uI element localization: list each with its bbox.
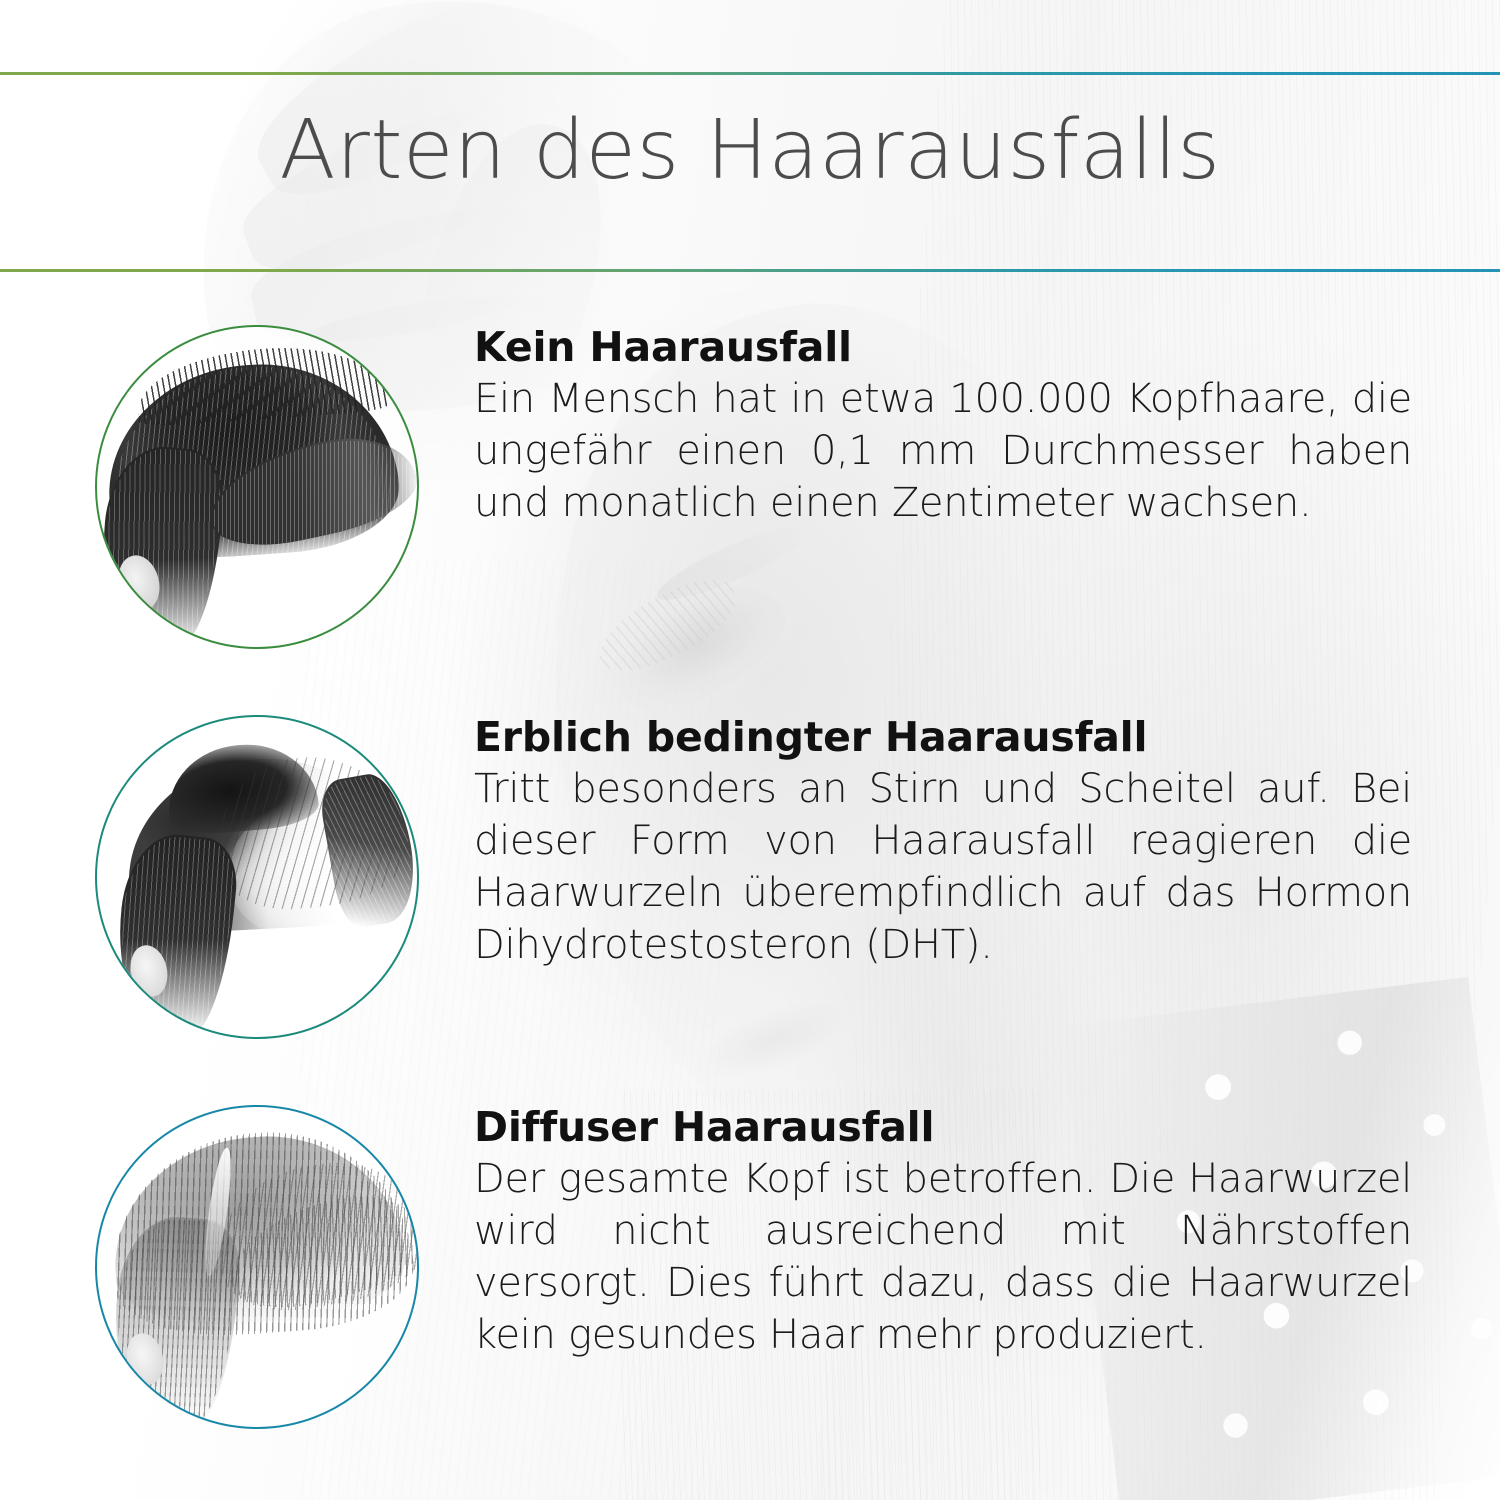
full-hair-circle-icon bbox=[95, 325, 419, 649]
page-title: Arten des Haarausfalls bbox=[0, 108, 1500, 194]
receding-hairline-circle-icon bbox=[95, 715, 419, 1039]
section-heading: Kein Haarausfall bbox=[474, 325, 1412, 371]
hair-illustration-diffuse bbox=[97, 1107, 417, 1427]
section-body: Ein Mensch hat in etwa 100.000 Kopfhaare… bbox=[474, 373, 1412, 529]
section-body: Der gesamte Kopf ist betroffen. Die Haar… bbox=[474, 1153, 1412, 1361]
divider-rule-bottom bbox=[0, 269, 1500, 272]
section-text-column: Kein Haarausfall Ein Mensch hat in etwa … bbox=[474, 325, 1412, 529]
section-heading: Diffuser Haarausfall bbox=[474, 1105, 1412, 1151]
section-body: Tritt besonders an Stirn und Scheitel au… bbox=[474, 763, 1412, 971]
divider-rule-top bbox=[0, 72, 1500, 75]
section-heading: Erblich bedingter Haarausfall bbox=[474, 715, 1412, 761]
section-text-column: Erblich bedingter Haarausfall Tritt beso… bbox=[474, 715, 1412, 971]
section-text-column: Diffuser Haarausfall Der gesamte Kopf is… bbox=[474, 1105, 1412, 1361]
hair-illustration-full bbox=[97, 327, 417, 647]
hair-illustration-receding bbox=[97, 717, 417, 1037]
diffuse-thinning-circle-icon bbox=[95, 1105, 419, 1429]
infographic-canvas: Arten des Haarausfalls Kein Haarausfall … bbox=[0, 0, 1500, 1500]
